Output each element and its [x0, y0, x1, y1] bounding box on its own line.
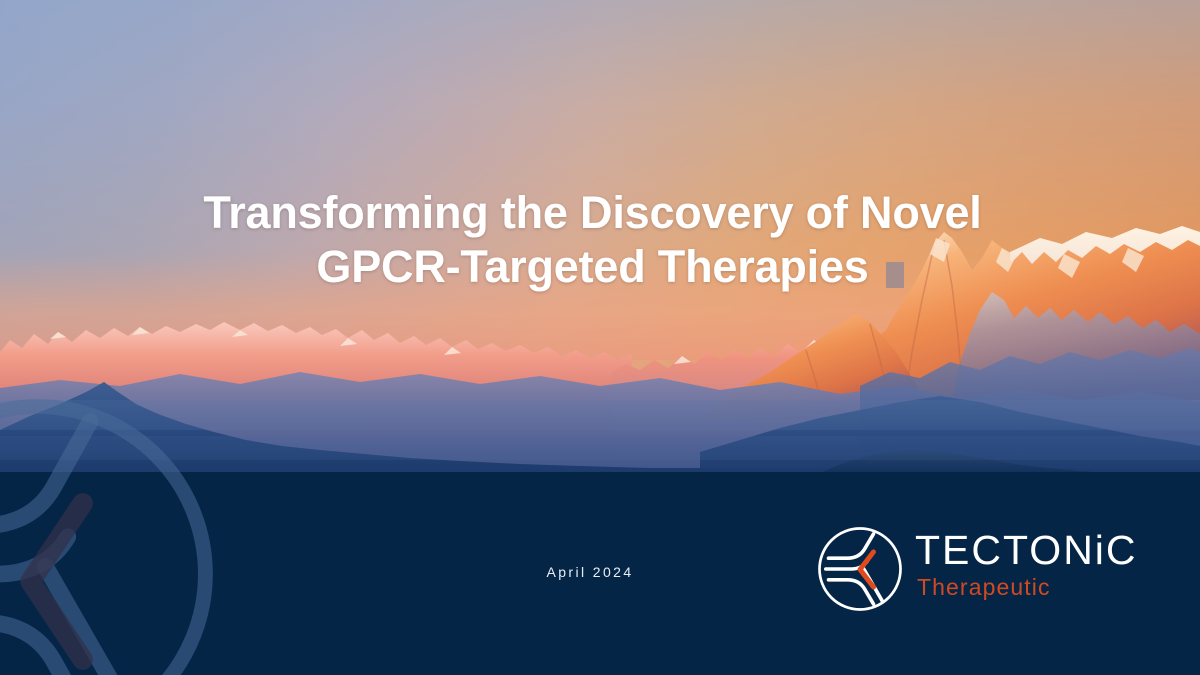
title-line-1: Transforming the Discovery of Novel	[0, 186, 1185, 240]
tectonic-circle-fork-chevron-logo-mark	[815, 524, 905, 614]
title-slide: Transforming the Discovery of Novel GPCR…	[0, 0, 1200, 675]
title-line-2: GPCR-Targeted Therapies	[0, 240, 1185, 294]
brand-wordmark: TECTONiC	[915, 528, 1145, 573]
slide-title: Transforming the Discovery of Novel GPCR…	[0, 186, 1185, 294]
brand-logo-lockup: TECTONiC Therapeutic	[815, 524, 1145, 616]
brand-subwordmark: Therapeutic	[917, 574, 1145, 600]
brand-wordmark-group: TECTONiC Therapeutic	[915, 528, 1145, 600]
slide-date: April 2024	[440, 564, 740, 580]
